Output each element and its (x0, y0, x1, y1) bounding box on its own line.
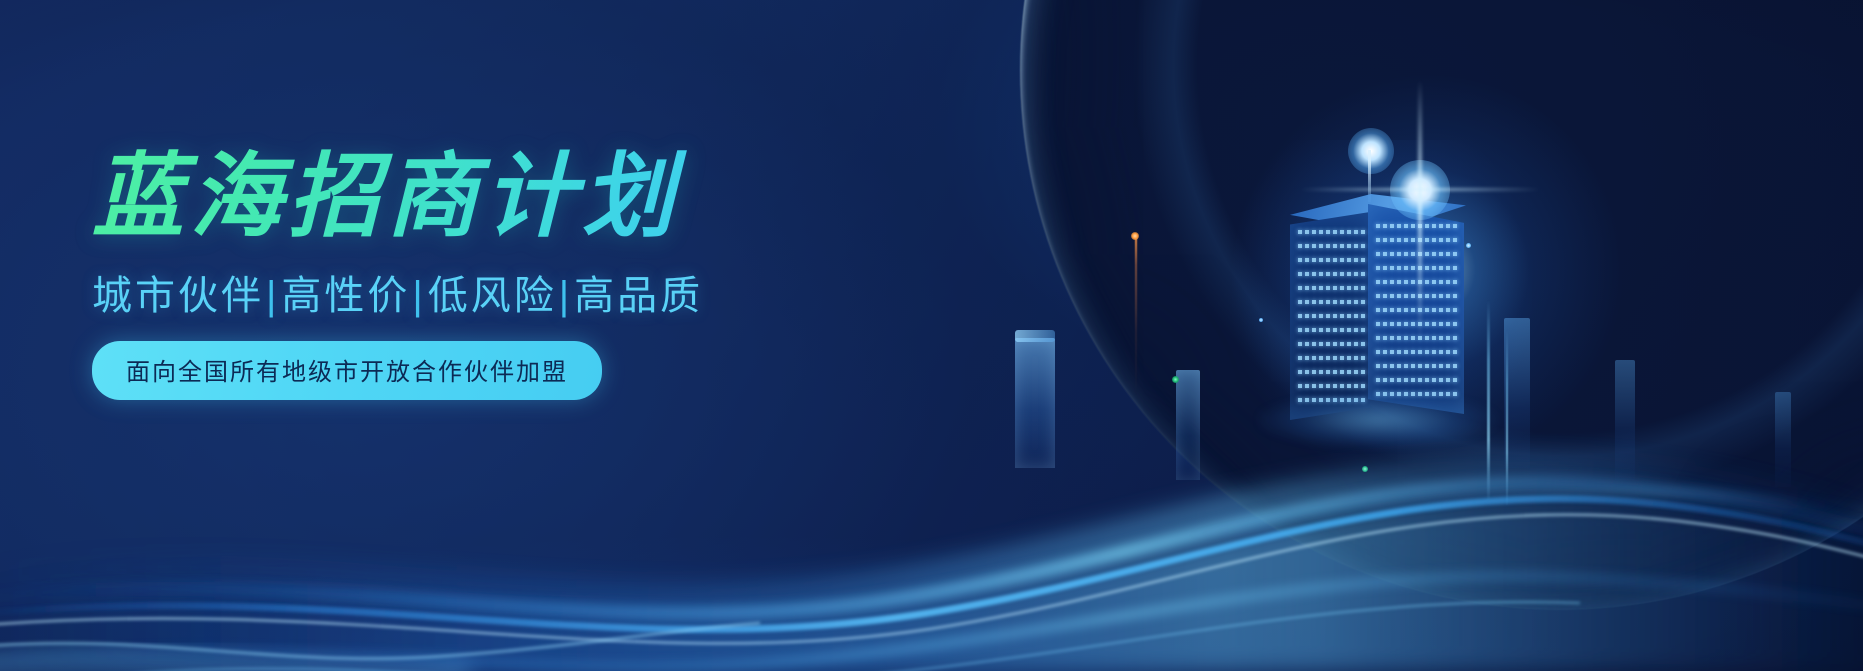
banner-subtitle: 城市伙伴|高性价|低风险|高品质 (92, 263, 812, 321)
subtitle-part-4: 高品质 (574, 274, 703, 318)
subtitle-separator-3: | (557, 274, 574, 318)
partnership-badge[interactable]: 面向全国所有地级市开放合作伙伴加盟 (92, 341, 602, 400)
particle-blue-1 (1466, 243, 1471, 248)
flare-ray-horizontal (1300, 188, 1540, 191)
mast-glow (1348, 128, 1394, 174)
subtitle-separator-1: | (264, 274, 281, 318)
promotional-banner: 蓝海招商计划 城市伙伴|高性价|低风险|高品质 面向全国所有地级市开放合作伙伴加… (0, 0, 1863, 671)
banner-title: 蓝海招商计划 (92, 148, 812, 247)
flare-ray-vertical (1418, 80, 1422, 340)
banner-content: 蓝海招商计划 城市伙伴|高性价|低风险|高品质 面向全国所有地级市开放合作伙伴加… (92, 148, 812, 400)
subtitle-part-3: 低风险 (428, 274, 557, 318)
subtitle-part-2: 高性价 (281, 274, 410, 318)
subtitle-part-1: 城市伙伴 (92, 274, 264, 318)
subtitle-separator-2: | (410, 274, 427, 318)
badge-container: 面向全国所有地级市开放合作伙伴加盟 (92, 341, 812, 400)
antenna-tip-light (1131, 232, 1139, 240)
particle-blue-2 (1259, 318, 1263, 322)
